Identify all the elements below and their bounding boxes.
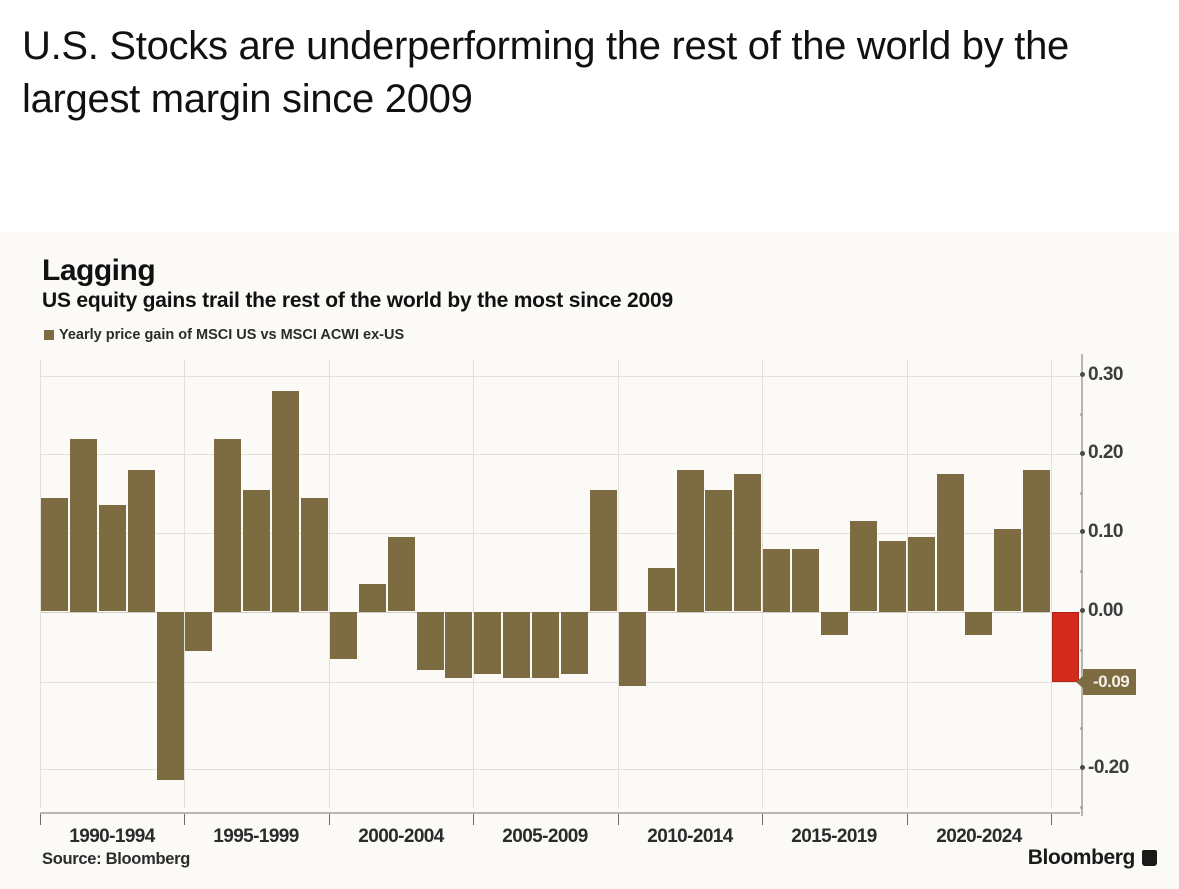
y-tick-0.30: 0.30 — [1081, 364, 1123, 386]
tick-dot-icon — [1080, 372, 1085, 377]
bar-2003[interactable] — [417, 612, 444, 671]
tick-dot-icon — [1080, 765, 1085, 770]
bar-2005[interactable] — [474, 612, 501, 675]
bar-2015[interactable] — [763, 549, 790, 612]
y-tick-label: -0.20 — [1088, 757, 1129, 779]
bar-2001[interactable] — [359, 584, 386, 612]
gridline-vertical — [1051, 360, 1052, 808]
bar-2008[interactable] — [561, 612, 588, 675]
bloomberg-brand: Bloomberg — [1028, 846, 1157, 870]
bar-2022[interactable] — [965, 612, 992, 636]
bar-2009[interactable] — [590, 490, 617, 612]
gridline-horizontal — [40, 533, 1080, 534]
bar-1999[interactable] — [301, 498, 328, 612]
y-axis-spine — [1081, 354, 1083, 816]
gridline-callout — [40, 682, 1080, 683]
y-tick-label: 0.00 — [1088, 600, 1123, 622]
y-tick-minor — [1081, 806, 1083, 809]
x-group-label-1995-1999: 1995-1999 — [184, 826, 328, 848]
gridline-horizontal — [40, 454, 1080, 455]
bloomberg-logo-icon — [1142, 850, 1157, 866]
tick-dot-icon — [1080, 608, 1085, 613]
x-group-label-1990-1994: 1990-1994 — [40, 826, 184, 848]
tick-dot-icon — [1080, 570, 1083, 573]
gridline-vertical — [184, 360, 185, 808]
x-group-label-2005-2009: 2005-2009 — [473, 826, 617, 848]
bar-2000[interactable] — [330, 612, 357, 659]
gridline-vertical — [329, 360, 330, 808]
y-axis: 0.300.200.100.00-0.20-0.09 — [1081, 360, 1179, 830]
tick-dot-icon — [1080, 451, 1085, 456]
x-group-separator — [184, 814, 185, 825]
tick-dot-icon — [1080, 413, 1083, 416]
y-tick-minor — [1081, 413, 1083, 416]
tick-dot-icon — [1080, 806, 1083, 809]
gridline-horizontal — [40, 769, 1080, 770]
bar-2018[interactable] — [850, 521, 877, 611]
bar-2020[interactable] — [908, 537, 935, 612]
y-tick-label: 0.20 — [1088, 442, 1123, 464]
y-tick--0.20: -0.20 — [1081, 757, 1129, 779]
x-axis-line — [40, 812, 1080, 814]
bar-2017[interactable] — [821, 612, 848, 636]
bar-1994[interactable] — [157, 612, 184, 781]
bar-2025[interactable] — [1052, 612, 1079, 683]
bar-2012[interactable] — [677, 470, 704, 611]
bar-1992[interactable] — [99, 505, 126, 611]
legend-label: Yearly price gain of MSCI US vs MSCI ACW… — [59, 327, 404, 343]
source-label: Source: Bloomberg — [42, 850, 190, 869]
x-group-label-2010-2014: 2010-2014 — [618, 826, 762, 848]
bar-2024[interactable] — [1023, 470, 1050, 611]
bar-2019[interactable] — [879, 541, 906, 612]
bar-2023[interactable] — [994, 529, 1021, 612]
x-axis: 1990-19941995-19992000-20042005-20092010… — [40, 812, 1080, 852]
x-group-separator — [907, 814, 908, 825]
bar-1995[interactable] — [185, 612, 212, 651]
chart-card: Lagging US equity gains trail the rest o… — [0, 232, 1179, 889]
y-tick-0.00: 0.00 — [1081, 600, 1123, 622]
bar-1997[interactable] — [243, 490, 270, 612]
value-callout-badge: -0.09 — [1083, 669, 1136, 695]
gridline-horizontal — [40, 376, 1080, 377]
tick-dot-icon — [1080, 529, 1085, 534]
x-group-separator — [329, 814, 330, 825]
x-group-label-2020-2024: 2020-2024 — [907, 826, 1051, 848]
legend-swatch-icon — [44, 330, 54, 340]
y-tick-minor — [1081, 727, 1083, 730]
bar-2013[interactable] — [705, 490, 732, 612]
bar-2006[interactable] — [503, 612, 530, 679]
x-group-separator — [40, 814, 41, 825]
bar-1996[interactable] — [214, 439, 241, 612]
y-tick-minor — [1081, 649, 1083, 652]
chart-legend: Yearly price gain of MSCI US vs MSCI ACW… — [44, 327, 404, 343]
tick-dot-icon — [1080, 492, 1083, 495]
y-tick-label: 0.10 — [1088, 521, 1123, 543]
y-tick-minor — [1081, 492, 1083, 495]
plot-area — [40, 360, 1080, 808]
bar-1991[interactable] — [70, 439, 97, 612]
bar-1998[interactable] — [272, 391, 299, 611]
bar-2004[interactable] — [445, 612, 472, 679]
tick-dot-icon — [1080, 649, 1083, 652]
bar-2010[interactable] — [619, 612, 646, 687]
tick-dot-icon — [1080, 727, 1083, 730]
x-group-label-2000-2004: 2000-2004 — [329, 826, 473, 848]
y-tick-0.10: 0.10 — [1081, 521, 1123, 543]
bar-2014[interactable] — [734, 474, 761, 612]
x-group-separator — [762, 814, 763, 825]
bar-1990[interactable] — [41, 498, 68, 612]
page-headline: U.S. Stocks are underperforming the rest… — [22, 20, 1142, 126]
bar-2002[interactable] — [388, 537, 415, 612]
brand-label: Bloomberg — [1028, 846, 1135, 870]
gridline-vertical — [473, 360, 474, 808]
x-group-separator — [1051, 814, 1052, 825]
bar-2021[interactable] — [937, 474, 964, 612]
chart-title: Lagging — [42, 254, 155, 288]
y-tick-0.20: 0.20 — [1081, 442, 1123, 464]
bar-2007[interactable] — [532, 612, 559, 679]
gridline-vertical — [618, 360, 619, 808]
x-group-separator — [618, 814, 619, 825]
bar-1993[interactable] — [128, 470, 155, 611]
x-group-separator — [473, 814, 474, 825]
x-group-label-2015-2019: 2015-2019 — [762, 826, 906, 848]
bar-2016[interactable] — [792, 549, 819, 612]
y-tick-label: 0.30 — [1088, 364, 1123, 386]
chart-subtitle: US equity gains trail the rest of the wo… — [42, 289, 673, 313]
bar-2011[interactable] — [648, 568, 675, 611]
y-tick-minor — [1081, 570, 1083, 573]
